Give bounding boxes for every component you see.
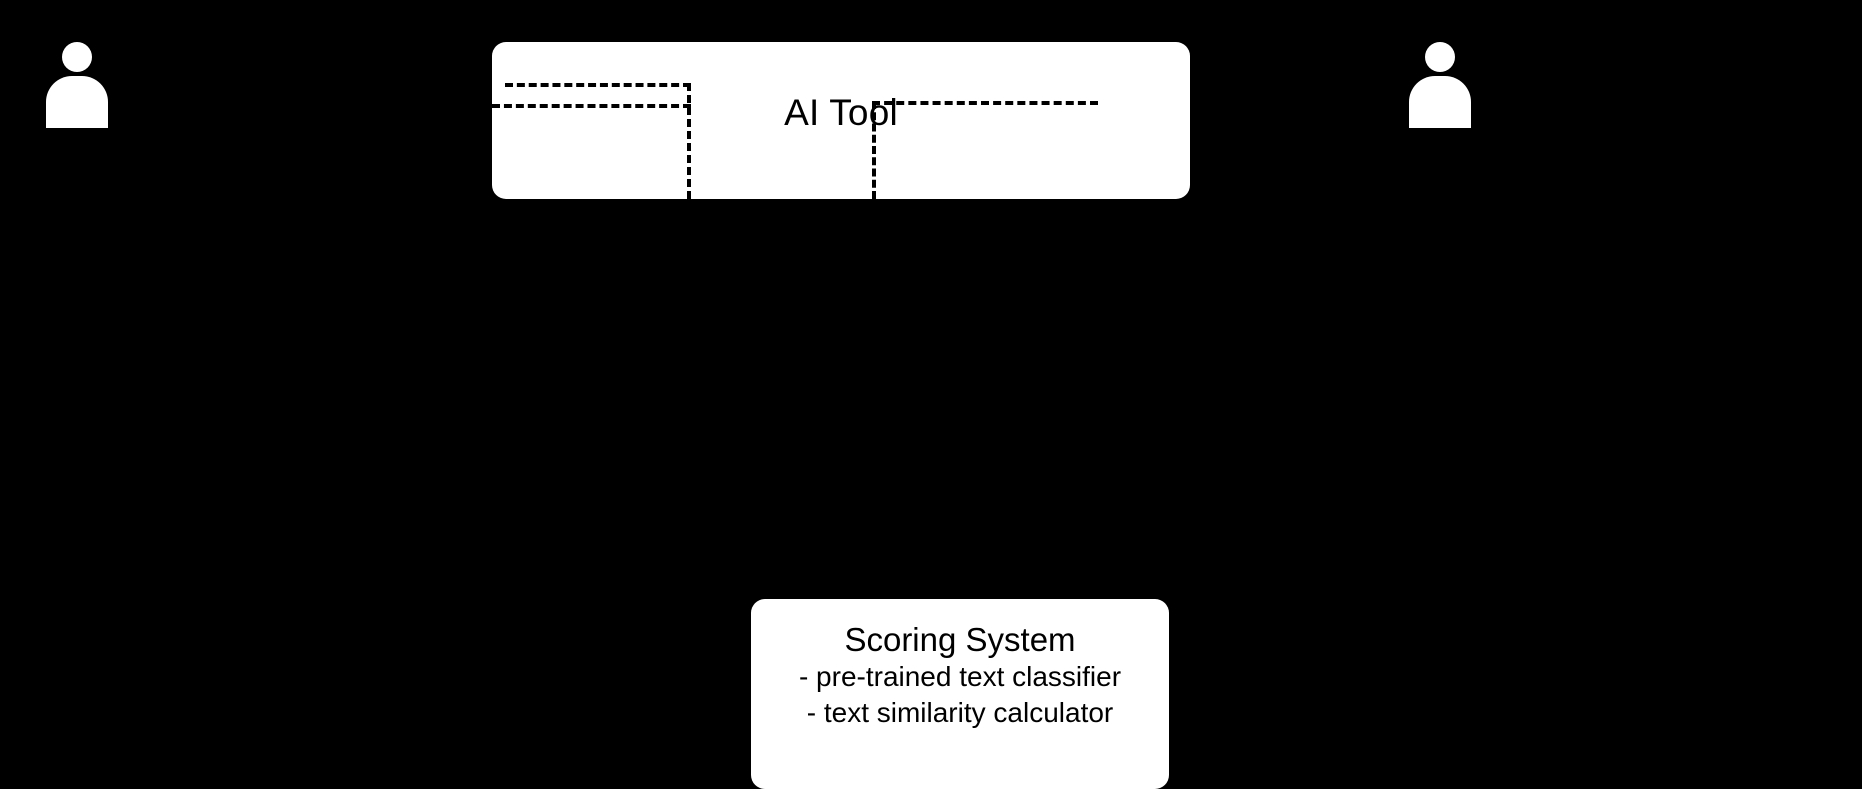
ai-tool-label: AI Tool [492,94,1190,131]
scoring-system-box[interactable]: Scoring System - pre-trained text classi… [751,599,1169,789]
actor-right[interactable] [1409,42,1471,142]
person-icon-head [1425,42,1455,72]
left-fragment-top-edge [505,83,691,87]
scoring-system-item-1: - pre-trained text classifier [751,659,1169,695]
scoring-system-item-2: - text similarity calculator [751,695,1169,731]
person-icon-head [62,42,92,72]
actor-left[interactable] [46,42,108,142]
diagram-canvas: AI Tool Scoring System - pre-trained tex… [0,0,1862,780]
scoring-system-title: Scoring System [751,621,1169,659]
ai-tool-box[interactable]: AI Tool [492,42,1190,199]
person-icon-body [46,76,108,128]
person-icon-body [1409,76,1471,128]
